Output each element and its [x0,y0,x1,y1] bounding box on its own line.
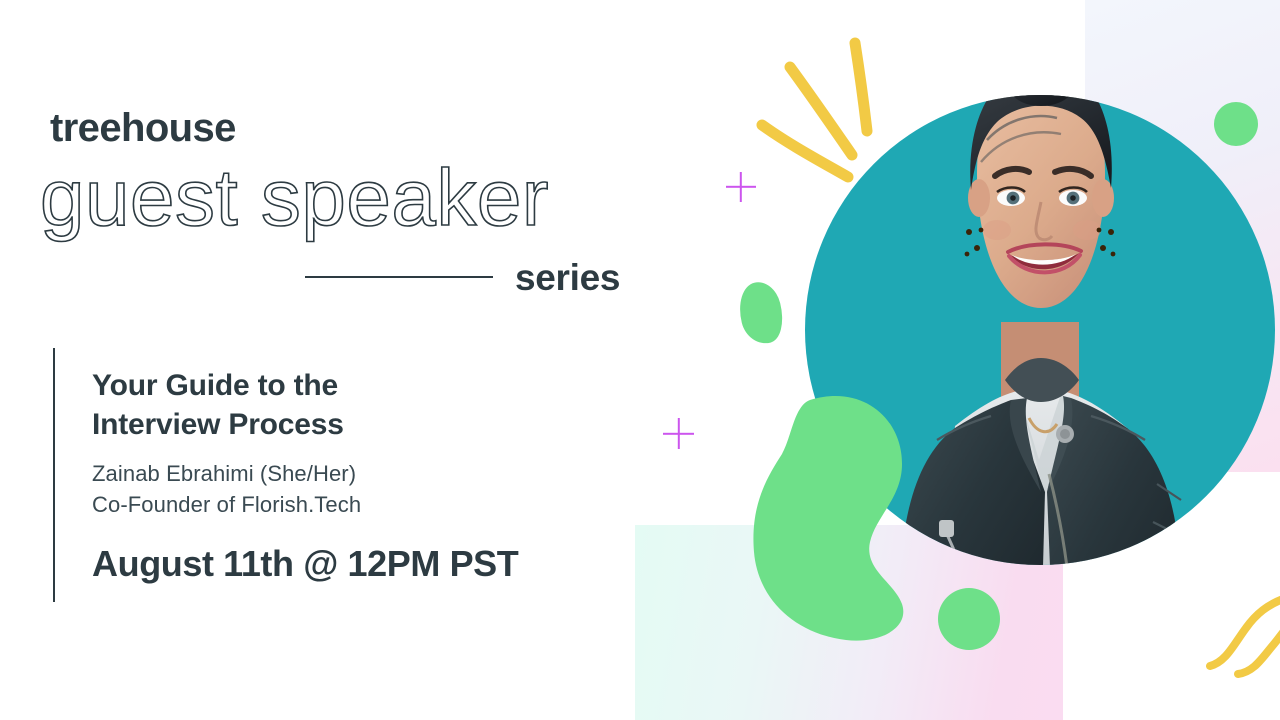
speaker-role: Co-Founder of Florish.Tech [92,489,612,520]
plus-mark-top-icon [726,172,756,202]
plus-mark-middle-icon [663,418,694,449]
series-word: series [515,259,620,296]
talk-title: Your Guide to the Interview Process [92,366,612,444]
green-dot-bottom-shape [938,588,1000,650]
green-blob-large-shape [752,392,957,642]
talk-title-line-2: Interview Process [92,408,344,441]
talk-title-line-1: Your Guide to the [92,369,338,402]
yellow-dash-burst-icon [700,25,930,255]
green-blob-small-shape [733,278,789,348]
brand-wordmark: treehouse [50,108,236,148]
event-datetime: August 11th @ 12PM PST [92,546,612,582]
yellow-wave-lines-icon [1150,570,1280,700]
series-divider-rule [305,276,493,278]
poster-canvas: treehouse guest speaker series Your Guid… [0,0,1280,720]
headline-guest-speaker: guest speaker [40,158,549,238]
series-row: series [305,253,625,301]
speaker-name: Zainab Ebrahimi (She/Her) [92,458,612,489]
vertical-accent-rule [53,348,55,602]
event-details: Your Guide to the Interview Process Zain… [92,366,612,582]
